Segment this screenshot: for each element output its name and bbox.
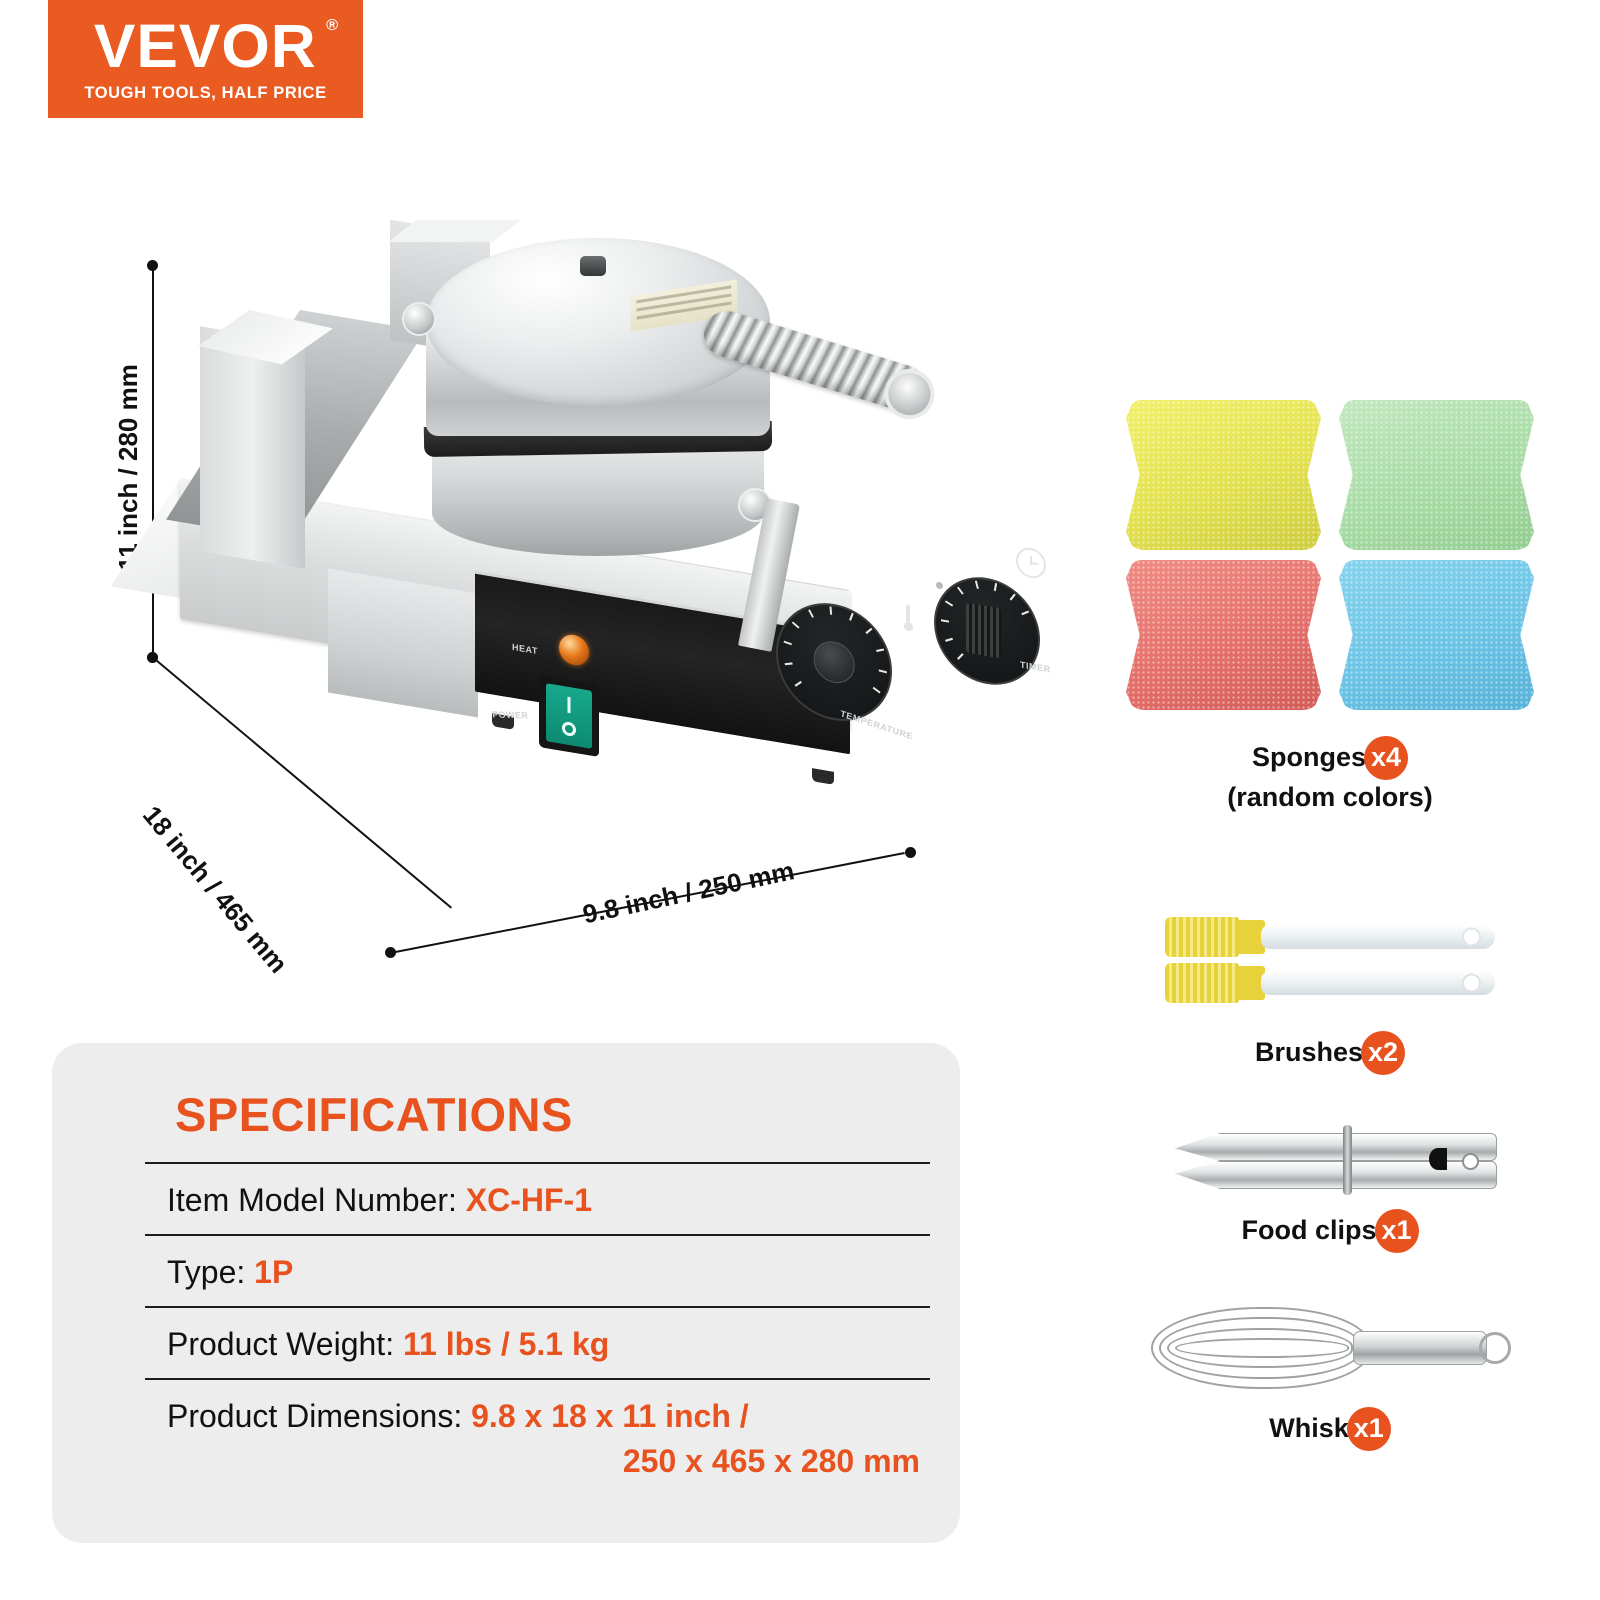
brush-bristles xyxy=(1165,917,1239,957)
brush-handle xyxy=(1261,925,1495,949)
temperature-label: TEMPERATURE xyxy=(840,708,914,741)
tongs-lock-band xyxy=(1343,1125,1352,1195)
whisk-image xyxy=(1145,1293,1515,1403)
whisk-hang-ring xyxy=(1479,1332,1511,1364)
specifications-title: SPECIFICATIONS xyxy=(175,1087,573,1142)
whisk-handle xyxy=(1353,1331,1487,1365)
accessory-whisk: Whisk x1 xyxy=(1110,1293,1550,1451)
sponge-yellow xyxy=(1126,400,1321,550)
machine-riser-front xyxy=(200,326,305,569)
spec-label-product-weight: Product Weight: xyxy=(167,1326,394,1362)
spec-row-product-dimensions: Product Dimensions: 9.8 x 18 x 11 inch /… xyxy=(145,1378,930,1494)
brush-image-2 xyxy=(1165,957,1495,1009)
clock-icon xyxy=(1016,545,1046,580)
spec-value-type: 1P xyxy=(254,1254,293,1290)
specifications-table: Item Model Number: XC-HF-1 Type: 1P Prod… xyxy=(145,1162,930,1495)
spec-value-item-model-number: XC-HF-1 xyxy=(466,1182,592,1218)
food-clips-image xyxy=(1155,1117,1505,1203)
power-rocker-switch[interactable] xyxy=(539,675,599,757)
tongs-hang-hole xyxy=(1462,1153,1479,1170)
spec-row-item-model-number: Item Model Number: XC-HF-1 xyxy=(145,1162,930,1234)
tongs-notch xyxy=(1429,1148,1447,1170)
specifications-panel: SPECIFICATIONS Item Model Number: XC-HF-… xyxy=(52,1043,960,1543)
sponge-green xyxy=(1339,400,1534,550)
temperature-dial[interactable] xyxy=(790,611,878,714)
spec-value-product-dimensions: 9.8 x 18 x 11 inch / xyxy=(471,1398,749,1434)
spec-row-product-weight: Product Weight: 11 lbs / 5.1 kg xyxy=(145,1306,930,1378)
accessory-food-clips: Food clips x1 xyxy=(1110,1117,1550,1253)
brush-image-1 xyxy=(1165,911,1495,963)
accessory-sponges: Sponges x4 (random colors) xyxy=(1110,400,1550,813)
waffle-maker-product-image: HEAT POWER TEMPERATURE xyxy=(140,210,940,910)
spec-value-product-dimensions-metric: 250 x 465 x 280 mm xyxy=(167,1439,930,1483)
sponge-red xyxy=(1126,560,1321,710)
brand-name-text: VEVOR ® xyxy=(94,16,317,77)
thermometer-icon xyxy=(904,604,912,631)
timer-led-dot xyxy=(936,581,943,589)
brush-hang-hole xyxy=(1462,928,1481,947)
whisk-label-row: Whisk x1 xyxy=(1110,1407,1550,1451)
whisk-qty-badge: x1 xyxy=(1347,1407,1391,1451)
power-label: POWER xyxy=(491,709,529,720)
spec-label-type: Type: xyxy=(167,1254,245,1290)
accessories-column: Sponges x4 (random colors) Brushes x2 xyxy=(1110,400,1550,1451)
tongs-lower-arm xyxy=(1175,1161,1497,1189)
waffle-plate-assembly xyxy=(408,232,788,577)
accessory-brushes: Brushes x2 xyxy=(1110,911,1550,1075)
brushes-qty-badge: x2 xyxy=(1361,1031,1405,1075)
sponges-sub-label: (random colors) xyxy=(1110,782,1550,813)
spec-row-type: Type: 1P xyxy=(145,1234,930,1306)
tongs-upper-arm xyxy=(1175,1133,1497,1161)
spec-value-product-weight: 11 lbs / 5.1 kg xyxy=(403,1326,609,1362)
machine-foot-right xyxy=(812,768,834,785)
brush-handle xyxy=(1261,971,1495,995)
sponge-blue xyxy=(1339,560,1534,710)
brush-bristles xyxy=(1165,963,1239,1003)
sponges-label-row: Sponges x4 xyxy=(1110,736,1550,780)
timer-dial[interactable] xyxy=(948,585,1026,676)
whisk-label: Whisk xyxy=(1269,1412,1349,1446)
hinge-bolt-upper-left xyxy=(402,302,436,336)
whisk-wire-loop xyxy=(1175,1338,1349,1358)
brush-hang-hole xyxy=(1462,974,1481,993)
upper-plate-knob xyxy=(580,256,606,276)
timer-dial-grip xyxy=(966,603,1002,659)
brand-tagline: TOUGH TOOLS, HALF PRICE xyxy=(84,84,326,103)
sponges-qty-badge: x4 xyxy=(1364,736,1408,780)
food-clips-qty-badge: x1 xyxy=(1375,1209,1419,1253)
registered-trademark-icon: ® xyxy=(326,18,339,34)
product-photo-with-dimensions: 11 inch / 280 mm 18 inch / 465 mm 9.8 in… xyxy=(140,210,940,970)
sponges-label: Sponges xyxy=(1252,741,1366,775)
brushes-label-row: Brushes x2 xyxy=(1110,1031,1550,1075)
infographic-page: VEVOR ® TOUGH TOOLS, HALF PRICE 11 inch … xyxy=(0,0,1600,1600)
machine-base-left-face xyxy=(328,568,478,717)
sponge-image-grid xyxy=(1110,400,1550,710)
brand-logo: VEVOR ® TOUGH TOOLS, HALF PRICE xyxy=(48,0,363,118)
brushes-label: Brushes xyxy=(1255,1036,1363,1070)
spec-label-item-model-number: Item Model Number: xyxy=(167,1182,457,1218)
spec-label-product-dimensions: Product Dimensions: xyxy=(167,1398,462,1434)
brand-name-label: VEVOR xyxy=(94,12,317,80)
food-clips-label-row: Food clips x1 xyxy=(1110,1209,1550,1253)
food-clips-label: Food clips xyxy=(1242,1214,1377,1248)
